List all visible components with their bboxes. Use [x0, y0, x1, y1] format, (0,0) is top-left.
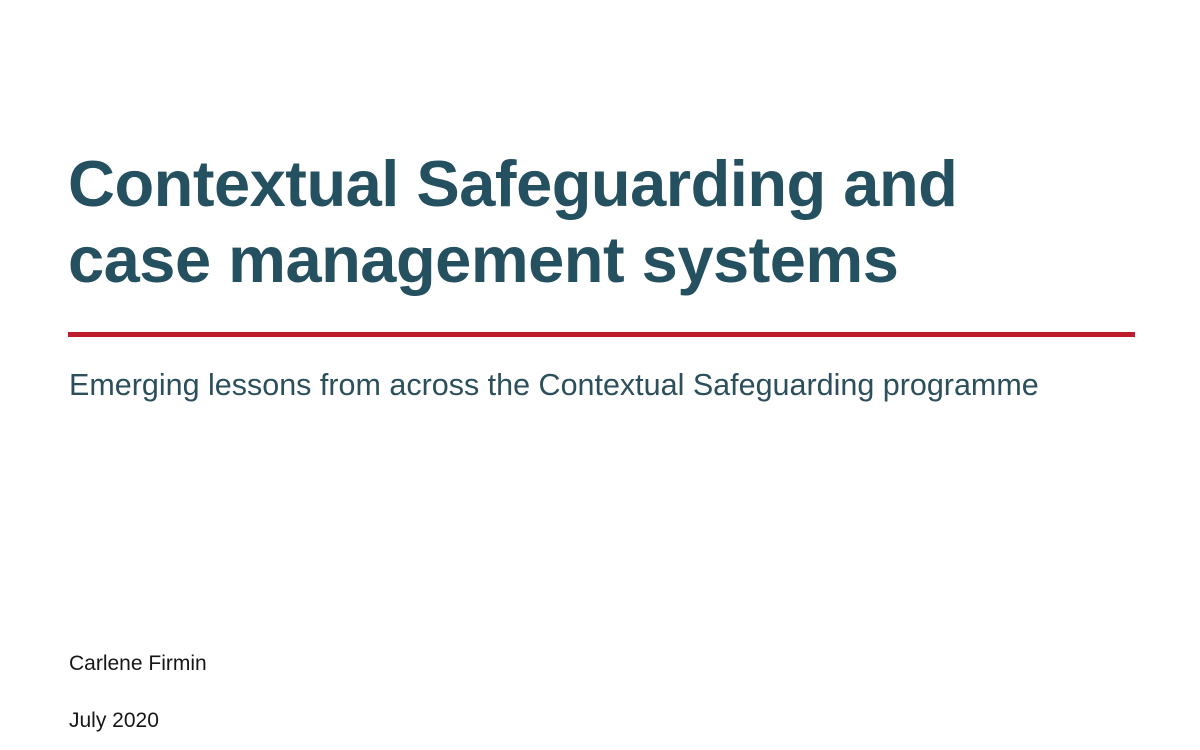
title-slide: Contextual Safeguarding and case managem…: [0, 0, 1200, 750]
page-subtitle: Emerging lessons from across the Context…: [69, 366, 1139, 404]
author-name: Carlene Firmin: [69, 652, 569, 676]
subtitle-block: Emerging lessons from across the Context…: [69, 366, 1139, 404]
byline-block: Carlene Firmin July 2020: [69, 652, 569, 733]
accent-divider-rule: [68, 332, 1135, 337]
title-block: Contextual Safeguarding and case managem…: [68, 146, 1138, 298]
presentation-date: July 2020: [69, 709, 569, 733]
page-title: Contextual Safeguarding and case managem…: [68, 146, 1138, 298]
